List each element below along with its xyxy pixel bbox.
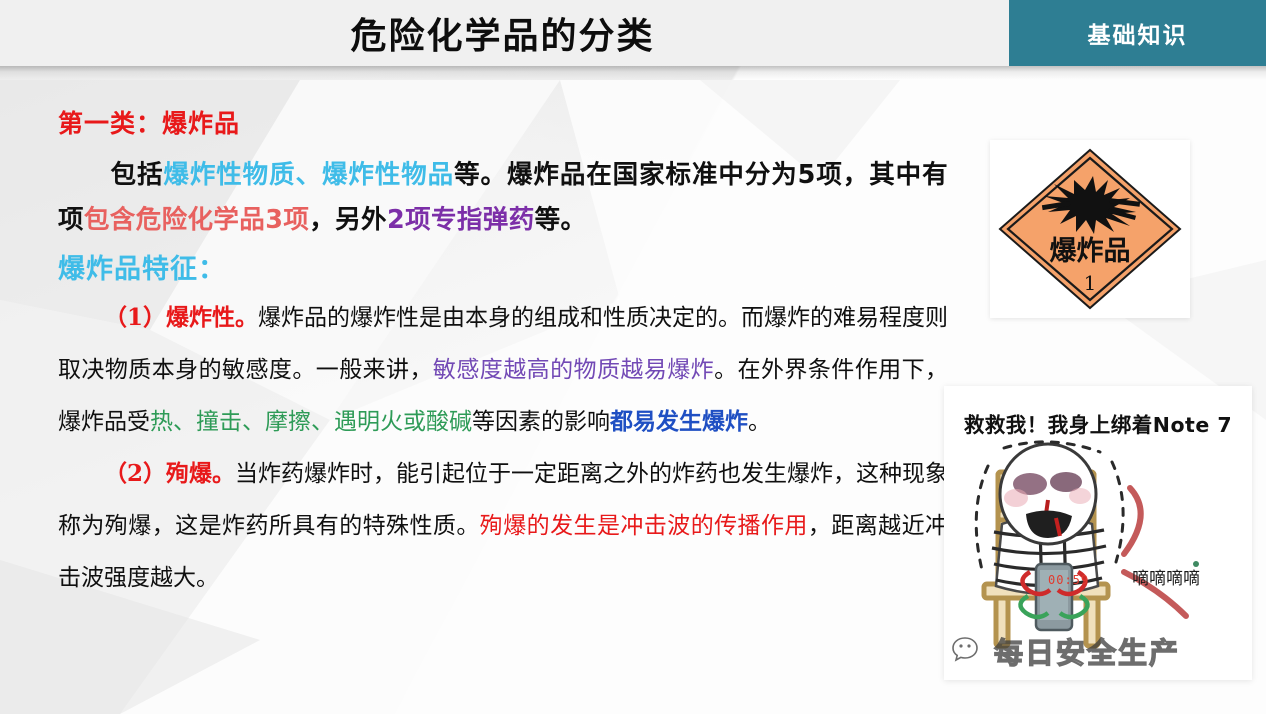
left-cheek-blush	[1004, 489, 1028, 507]
wechat-icon	[952, 636, 986, 666]
paragraph-item-2: （2）殉爆。当炸药爆炸时，能引起位于一定距离之外的炸药也发生爆炸，这种现象称为殉…	[58, 448, 948, 604]
intro-mid2: ，另外	[309, 205, 387, 235]
intro-lead: 包括	[110, 160, 163, 190]
intro-tail: 等。	[535, 205, 587, 235]
status-badge: 基础知识	[1005, 0, 1266, 66]
hazard-placard-image: 爆炸品 1	[990, 140, 1190, 318]
placard-class-number: 1	[1084, 271, 1097, 295]
page-title: 危险化学品的分类	[0, 0, 1005, 66]
item1-text-4: 。	[748, 409, 771, 435]
placard-label: 爆炸品	[1050, 236, 1131, 267]
header-shadow	[0, 66, 1266, 80]
header-bar: 危险化学品的分类 基础知识	[0, 0, 1266, 66]
item2-red-highlight: 殉爆的发生是冲击波的传播作用	[480, 513, 808, 539]
beep-sound-label: 嘀嘀嘀嘀	[1132, 564, 1200, 589]
paragraph-item-1: （1）爆炸性。爆炸品的爆炸性是由本身的组成和性质决定的。而爆炸的难易程度则取决物…	[58, 292, 948, 448]
item1-label: （1）爆炸性。	[104, 304, 258, 331]
item1-violet-highlight: 敏感度越高的物质越易爆炸	[433, 357, 714, 383]
slide: 危险化学品的分类 基础知识 第一类：爆炸品 包括爆炸性物质、爆炸性物品等。爆炸品…	[0, 0, 1266, 714]
item1-text-3: 等因素的影响	[472, 409, 610, 435]
paragraph-intro: 包括爆炸性物质、爆炸性物品等。爆炸品在国家标准中分为5项，其中有项包含危险化学品…	[58, 153, 948, 243]
explosive-placard-diamond: 爆炸品 1	[990, 140, 1190, 318]
item2-label: （2）殉爆。	[104, 460, 235, 487]
section-heading: 第一类：爆炸品	[58, 104, 948, 140]
right-cheek-blush	[1069, 488, 1091, 504]
slide-content: 第一类：爆炸品 包括爆炸性物质、爆炸性物品等。爆炸品在国家标准中分为5项，其中有…	[58, 104, 948, 604]
feature-heading: 爆炸品特征：	[58, 247, 948, 286]
intro-cyan-highlight: 爆炸性物质、爆炸性物品	[163, 160, 454, 190]
watermark: 每日安全生产	[952, 630, 1180, 672]
intro-salmon-highlight: 包含危险化学品3项	[84, 205, 309, 235]
watermark-text: 每日安全生产	[994, 630, 1180, 672]
meme-image: 救救我！我身上绑着Note 7	[944, 386, 1252, 680]
item1-green-highlight: 热、撞击、摩擦、遇明火或酸碱	[150, 409, 472, 435]
intro-purple-highlight: 2项专指弹药	[387, 205, 535, 235]
phone-timer-readout: 00:59	[1048, 573, 1089, 587]
sound-stroke	[1124, 488, 1141, 554]
item1-blue-highlight: 都易发生爆炸	[610, 408, 748, 435]
